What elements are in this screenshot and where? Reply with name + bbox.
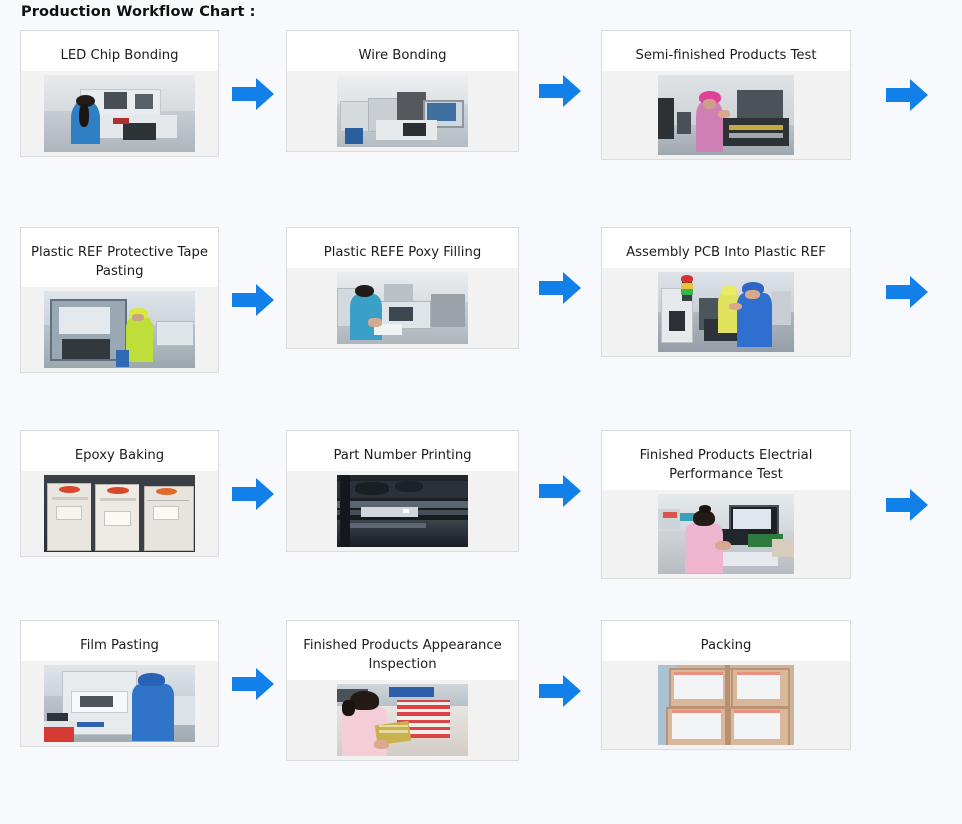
step-media bbox=[21, 287, 218, 372]
workflow-row: Epoxy Baking bbox=[0, 430, 962, 620]
step-label: Plastic REF Protective Tape Pasting bbox=[21, 236, 218, 287]
step-label: LED Chip Bonding bbox=[21, 39, 218, 71]
workflow-step-cell: Part Number Printing bbox=[286, 430, 601, 552]
step-photo-finished-products-electrial-performance-test bbox=[658, 494, 794, 574]
flow-arrow-icon bbox=[884, 272, 930, 312]
page-title: Production Workflow Chart : bbox=[21, 4, 256, 20]
arrow-cell bbox=[219, 74, 286, 114]
flow-arrow-icon bbox=[884, 485, 930, 525]
step-label: Finished Products Electrial Performance … bbox=[602, 439, 850, 490]
step-photo-plastic-ref-protective-tape-pasting bbox=[44, 291, 195, 368]
step-photo-wire-bonding bbox=[337, 75, 468, 147]
workflow-step-cell: Finished Products Appearance Inspection bbox=[286, 620, 601, 761]
workflow-row: Film Pasting bbox=[0, 620, 962, 810]
flow-arrow-icon bbox=[230, 474, 276, 514]
step-label: Assembly PCB Into Plastic REF bbox=[602, 236, 850, 268]
step-media bbox=[602, 661, 850, 749]
workflow-step-cell: Plastic REF Protective Tape Pasting bbox=[0, 227, 286, 373]
arrow-cell bbox=[519, 268, 601, 308]
step-label: Part Number Printing bbox=[287, 439, 518, 471]
workflow-step-cell: Packing bbox=[601, 620, 962, 750]
step-media bbox=[287, 71, 518, 151]
arrow-cell bbox=[851, 75, 962, 115]
workflow-step-card[interactable]: Semi-finished Products Test bbox=[601, 30, 851, 160]
flow-arrow-icon bbox=[230, 664, 276, 704]
step-photo-assembly-pcb-into-plastic-ref bbox=[658, 272, 794, 352]
workflow-step-cell: Plastic REFE Poxy Filling bbox=[286, 227, 601, 349]
step-photo-packing bbox=[658, 665, 794, 745]
workflow-step-card[interactable]: LED Chip Bonding bbox=[20, 30, 219, 157]
flow-arrow-icon bbox=[230, 280, 276, 320]
step-label: Packing bbox=[602, 629, 850, 661]
step-media bbox=[21, 471, 218, 556]
arrow-cell bbox=[851, 272, 962, 312]
workflow-step-cell: Epoxy Baking bbox=[0, 430, 286, 557]
step-media bbox=[287, 680, 518, 760]
arrow-cell bbox=[519, 71, 601, 111]
step-media bbox=[602, 71, 850, 159]
step-media bbox=[21, 71, 218, 156]
step-photo-semi-finished-products-test bbox=[658, 75, 794, 155]
step-label: Epoxy Baking bbox=[21, 439, 218, 471]
workflow-step-cell: Semi-finished Products Test bbox=[601, 30, 962, 160]
workflow-step-card[interactable]: Plastic REF Protective Tape Pasting bbox=[20, 227, 219, 373]
workflow-row: LED Chip Bonding bbox=[0, 30, 962, 227]
workflow-step-card[interactable]: Wire Bonding bbox=[286, 30, 519, 152]
arrow-cell bbox=[219, 664, 286, 704]
workflow-step-cell: Film Pasting bbox=[0, 620, 286, 747]
step-photo-film-pasting bbox=[44, 665, 195, 742]
workflow-step-card[interactable]: Finished Products Electrial Performance … bbox=[601, 430, 851, 579]
step-media bbox=[602, 490, 850, 578]
arrow-cell bbox=[219, 280, 286, 320]
step-media bbox=[21, 661, 218, 746]
flow-arrow-icon bbox=[537, 268, 583, 308]
workflow-step-card[interactable]: Finished Products Appearance Inspection bbox=[286, 620, 519, 761]
step-photo-epoxy-baking bbox=[44, 475, 195, 552]
arrow-cell bbox=[219, 474, 286, 514]
step-media bbox=[287, 268, 518, 348]
step-label: Film Pasting bbox=[21, 629, 218, 661]
step-photo-finished-products-appearance-inspection bbox=[337, 684, 468, 756]
arrow-placeholder-none bbox=[884, 665, 930, 705]
flow-arrow-icon bbox=[537, 471, 583, 511]
step-label: Finished Products Appearance Inspection bbox=[287, 629, 518, 680]
arrow-cell bbox=[851, 665, 962, 705]
flow-arrow-icon bbox=[537, 71, 583, 111]
flow-arrow-icon bbox=[884, 75, 930, 115]
workflow-row: Plastic REF Protective Tape Pasting bbox=[0, 227, 962, 430]
step-photo-plastic-refe-poxy-filling bbox=[337, 272, 468, 344]
workflow-step-card[interactable]: Assembly PCB Into Plastic REF bbox=[601, 227, 851, 357]
arrow-cell bbox=[519, 671, 601, 711]
workflow-chart: LED Chip Bonding bbox=[0, 30, 962, 810]
step-photo-led-chip-bonding bbox=[44, 75, 195, 152]
workflow-step-card[interactable]: Plastic REFE Poxy Filling bbox=[286, 227, 519, 349]
flow-arrow-icon bbox=[230, 74, 276, 114]
workflow-step-cell: Finished Products Electrial Performance … bbox=[601, 430, 962, 579]
workflow-step-cell: LED Chip Bonding bbox=[0, 30, 286, 157]
step-label: Semi-finished Products Test bbox=[602, 39, 850, 71]
step-photo-part-number-printing bbox=[337, 475, 468, 547]
step-media bbox=[287, 471, 518, 551]
workflow-step-card[interactable]: Epoxy Baking bbox=[20, 430, 219, 557]
step-label: Plastic REFE Poxy Filling bbox=[287, 236, 518, 268]
workflow-step-card[interactable]: Packing bbox=[601, 620, 851, 750]
arrow-cell bbox=[519, 471, 601, 511]
workflow-step-card[interactable]: Part Number Printing bbox=[286, 430, 519, 552]
workflow-step-cell: Wire Bonding bbox=[286, 30, 601, 152]
arrow-cell bbox=[851, 485, 962, 525]
step-label: Wire Bonding bbox=[287, 39, 518, 71]
step-media bbox=[602, 268, 850, 356]
workflow-step-cell: Assembly PCB Into Plastic REF bbox=[601, 227, 962, 357]
workflow-step-card[interactable]: Film Pasting bbox=[20, 620, 219, 747]
flow-arrow-icon bbox=[537, 671, 583, 711]
